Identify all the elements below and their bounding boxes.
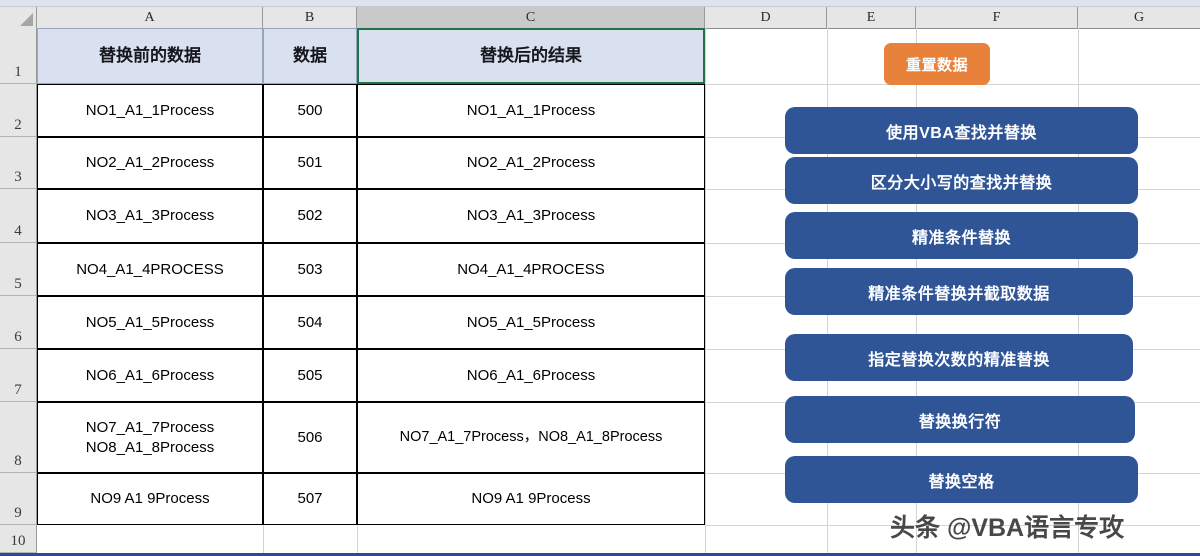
button-replace-line-break[interactable]: 替换换行符 bbox=[785, 396, 1135, 443]
cell-text: 503 bbox=[297, 260, 322, 279]
gridline-vertical bbox=[705, 28, 706, 553]
cell-text: 505 bbox=[297, 366, 322, 385]
button-label: 替换换行符 bbox=[919, 408, 1002, 432]
select-all-corner[interactable] bbox=[0, 7, 37, 28]
cell-text: 506 bbox=[297, 428, 322, 447]
row-header-5[interactable]: 5 bbox=[0, 243, 37, 296]
spreadsheet-canvas: A B C D E F G 1 2 3 4 5 6 7 8 9 10 替换前的数… bbox=[0, 0, 1200, 556]
cell-text: NO9 A1 9Process bbox=[90, 489, 209, 508]
cell-text: 504 bbox=[297, 313, 322, 332]
cell-text: NO6_A1_6Process bbox=[86, 366, 214, 385]
row-header-4-label: 4 bbox=[14, 223, 22, 240]
table-header-value[interactable]: 数据 bbox=[263, 28, 357, 84]
row-header-8[interactable]: 8 bbox=[0, 402, 37, 473]
row-header-8-label: 8 bbox=[14, 453, 22, 470]
cell-text: NO4_A1_4PROCESS bbox=[76, 260, 224, 279]
table-cell-value[interactable]: 501 bbox=[263, 137, 357, 189]
table-cell-after[interactable]: NO2_A1_2Process bbox=[357, 137, 705, 189]
table-cell-value[interactable]: 507 bbox=[263, 473, 357, 525]
cell-text: 500 bbox=[297, 101, 322, 120]
row-header-10-label: 10 bbox=[11, 533, 26, 550]
table-header-after-label: 替换后的结果 bbox=[480, 45, 582, 67]
table-cell-before[interactable]: NO4_A1_4PROCESS bbox=[37, 243, 263, 296]
gridline-vertical bbox=[357, 525, 358, 553]
cell-text: NO4_A1_4PROCESS bbox=[457, 260, 605, 279]
table-header-value-label: 数据 bbox=[293, 45, 327, 67]
cell-text: NO1_A1_1Process bbox=[467, 101, 595, 120]
cell-text: 502 bbox=[297, 206, 322, 225]
button-find-replace-vba[interactable]: 使用VBA查找并替换 bbox=[785, 107, 1138, 154]
table-cell-before[interactable]: NO7_A1_7Process NO8_A1_8Process bbox=[37, 402, 263, 473]
row-header-6-label: 6 bbox=[14, 329, 22, 346]
cell-text: 507 bbox=[297, 489, 322, 508]
table-cell-after[interactable]: NO5_A1_5Process bbox=[357, 296, 705, 349]
column-header-g[interactable]: G bbox=[1078, 7, 1200, 28]
cell-text: NO7_A1_7Process，NO8_A1_8Process bbox=[400, 428, 663, 447]
cell-text: 501 bbox=[297, 153, 322, 172]
button-case-sensitive-find-replace[interactable]: 区分大小写的查找并替换 bbox=[785, 157, 1138, 204]
select-all-triangle-icon bbox=[20, 13, 33, 26]
button-precise-conditional-replace[interactable]: 精准条件替换 bbox=[785, 212, 1138, 259]
table-header-after[interactable]: 替换后的结果 bbox=[357, 28, 705, 84]
column-header-e[interactable]: E bbox=[827, 7, 916, 28]
row-header-9[interactable]: 9 bbox=[0, 473, 37, 525]
table-cell-after[interactable]: NO1_A1_1Process bbox=[357, 84, 705, 137]
table-cell-after[interactable]: NO9 A1 9Process bbox=[357, 473, 705, 525]
table-cell-after[interactable]: NO6_A1_6Process bbox=[357, 349, 705, 402]
row-header-6[interactable]: 6 bbox=[0, 296, 37, 349]
row-header-2-label: 2 bbox=[14, 117, 22, 134]
table-cell-after[interactable]: NO7_A1_7Process，NO8_A1_8Process bbox=[357, 402, 705, 473]
table-cell-value[interactable]: 504 bbox=[263, 296, 357, 349]
cell-text: NO7_A1_7Process NO8_A1_8Process bbox=[86, 418, 214, 456]
column-header-b-label: B bbox=[305, 10, 314, 26]
row-header-7[interactable]: 7 bbox=[0, 349, 37, 402]
cell-text: NO2_A1_2Process bbox=[467, 153, 595, 172]
row-header-5-label: 5 bbox=[14, 276, 22, 293]
column-header-c-label: C bbox=[526, 10, 535, 26]
button-label: 指定替换次数的精准替换 bbox=[868, 346, 1050, 370]
button-label: 精准条件替换 bbox=[912, 224, 1011, 248]
table-cell-before[interactable]: NO5_A1_5Process bbox=[37, 296, 263, 349]
column-header-f-label: F bbox=[993, 10, 1001, 26]
cell-text: NO6_A1_6Process bbox=[467, 366, 595, 385]
cell-text: NO3_A1_3Process bbox=[467, 206, 595, 225]
gridline-vertical bbox=[263, 525, 264, 553]
table-cell-value[interactable]: 506 bbox=[263, 402, 357, 473]
row-header-1[interactable]: 1 bbox=[0, 28, 37, 84]
column-header-b[interactable]: B bbox=[263, 7, 357, 28]
table-cell-after[interactable]: NO4_A1_4PROCESS bbox=[357, 243, 705, 296]
table-header-before[interactable]: 替换前的数据 bbox=[37, 28, 263, 84]
row-header-3-label: 3 bbox=[14, 169, 22, 186]
button-label: 区分大小写的查找并替换 bbox=[871, 169, 1053, 193]
table-cell-value[interactable]: 505 bbox=[263, 349, 357, 402]
cell-text: NO1_A1_1Process bbox=[86, 101, 214, 120]
button-label: 使用VBA查找并替换 bbox=[886, 119, 1037, 143]
cell-text: NO9 A1 9Process bbox=[471, 489, 590, 508]
column-header-d-label: D bbox=[760, 10, 770, 26]
button-precise-replace-and-extract[interactable]: 精准条件替换并截取数据 bbox=[785, 268, 1133, 315]
reset-data-button[interactable]: 重置数据 bbox=[884, 43, 990, 85]
watermark-text: 头条 @VBA语言专攻 bbox=[890, 514, 1124, 542]
watermark: 头条 @VBA语言专攻 bbox=[890, 508, 1124, 544]
row-header-9-label: 9 bbox=[14, 505, 22, 522]
table-cell-after[interactable]: NO3_A1_3Process bbox=[357, 189, 705, 243]
column-header-g-label: G bbox=[1134, 10, 1144, 26]
button-label: 替换空格 bbox=[928, 468, 994, 492]
cell-text: NO2_A1_2Process bbox=[86, 153, 214, 172]
table-header-before-label: 替换前的数据 bbox=[99, 45, 201, 67]
cell-text: NO5_A1_5Process bbox=[86, 313, 214, 332]
column-header-e-label: E bbox=[867, 10, 876, 26]
cell-text: NO5_A1_5Process bbox=[467, 313, 595, 332]
button-replace-specified-count[interactable]: 指定替换次数的精准替换 bbox=[785, 334, 1133, 381]
table-cell-before[interactable]: NO9 A1 9Process bbox=[37, 473, 263, 525]
cell-text: NO3_A1_3Process bbox=[86, 206, 214, 225]
reset-data-button-label: 重置数据 bbox=[906, 54, 968, 75]
table-cell-before[interactable]: NO3_A1_3Process bbox=[37, 189, 263, 243]
column-header-f[interactable]: F bbox=[916, 7, 1078, 28]
column-header-d[interactable]: D bbox=[705, 7, 827, 28]
row-header-7-label: 7 bbox=[14, 382, 22, 399]
column-header-a[interactable]: A bbox=[37, 7, 263, 28]
column-header-a-label: A bbox=[144, 10, 154, 26]
row-header-4[interactable]: 4 bbox=[0, 189, 37, 243]
table-cell-before[interactable]: NO1_A1_1Process bbox=[37, 84, 263, 137]
row-header-2[interactable]: 2 bbox=[0, 84, 37, 137]
table-cell-value[interactable]: 503 bbox=[263, 243, 357, 296]
table-cell-value[interactable]: 500 bbox=[263, 84, 357, 137]
table-cell-before[interactable]: NO2_A1_2Process bbox=[37, 137, 263, 189]
top-strip bbox=[0, 0, 1200, 7]
column-header-c[interactable]: C bbox=[357, 7, 705, 28]
row-header-3[interactable]: 3 bbox=[0, 137, 37, 189]
row-header-1-label: 1 bbox=[14, 64, 22, 81]
row-header-10[interactable]: 10 bbox=[0, 525, 37, 553]
table-cell-before[interactable]: NO6_A1_6Process bbox=[37, 349, 263, 402]
button-label: 精准条件替换并截取数据 bbox=[868, 280, 1050, 304]
table-cell-value[interactable]: 502 bbox=[263, 189, 357, 243]
button-replace-space[interactable]: 替换空格 bbox=[785, 456, 1138, 503]
